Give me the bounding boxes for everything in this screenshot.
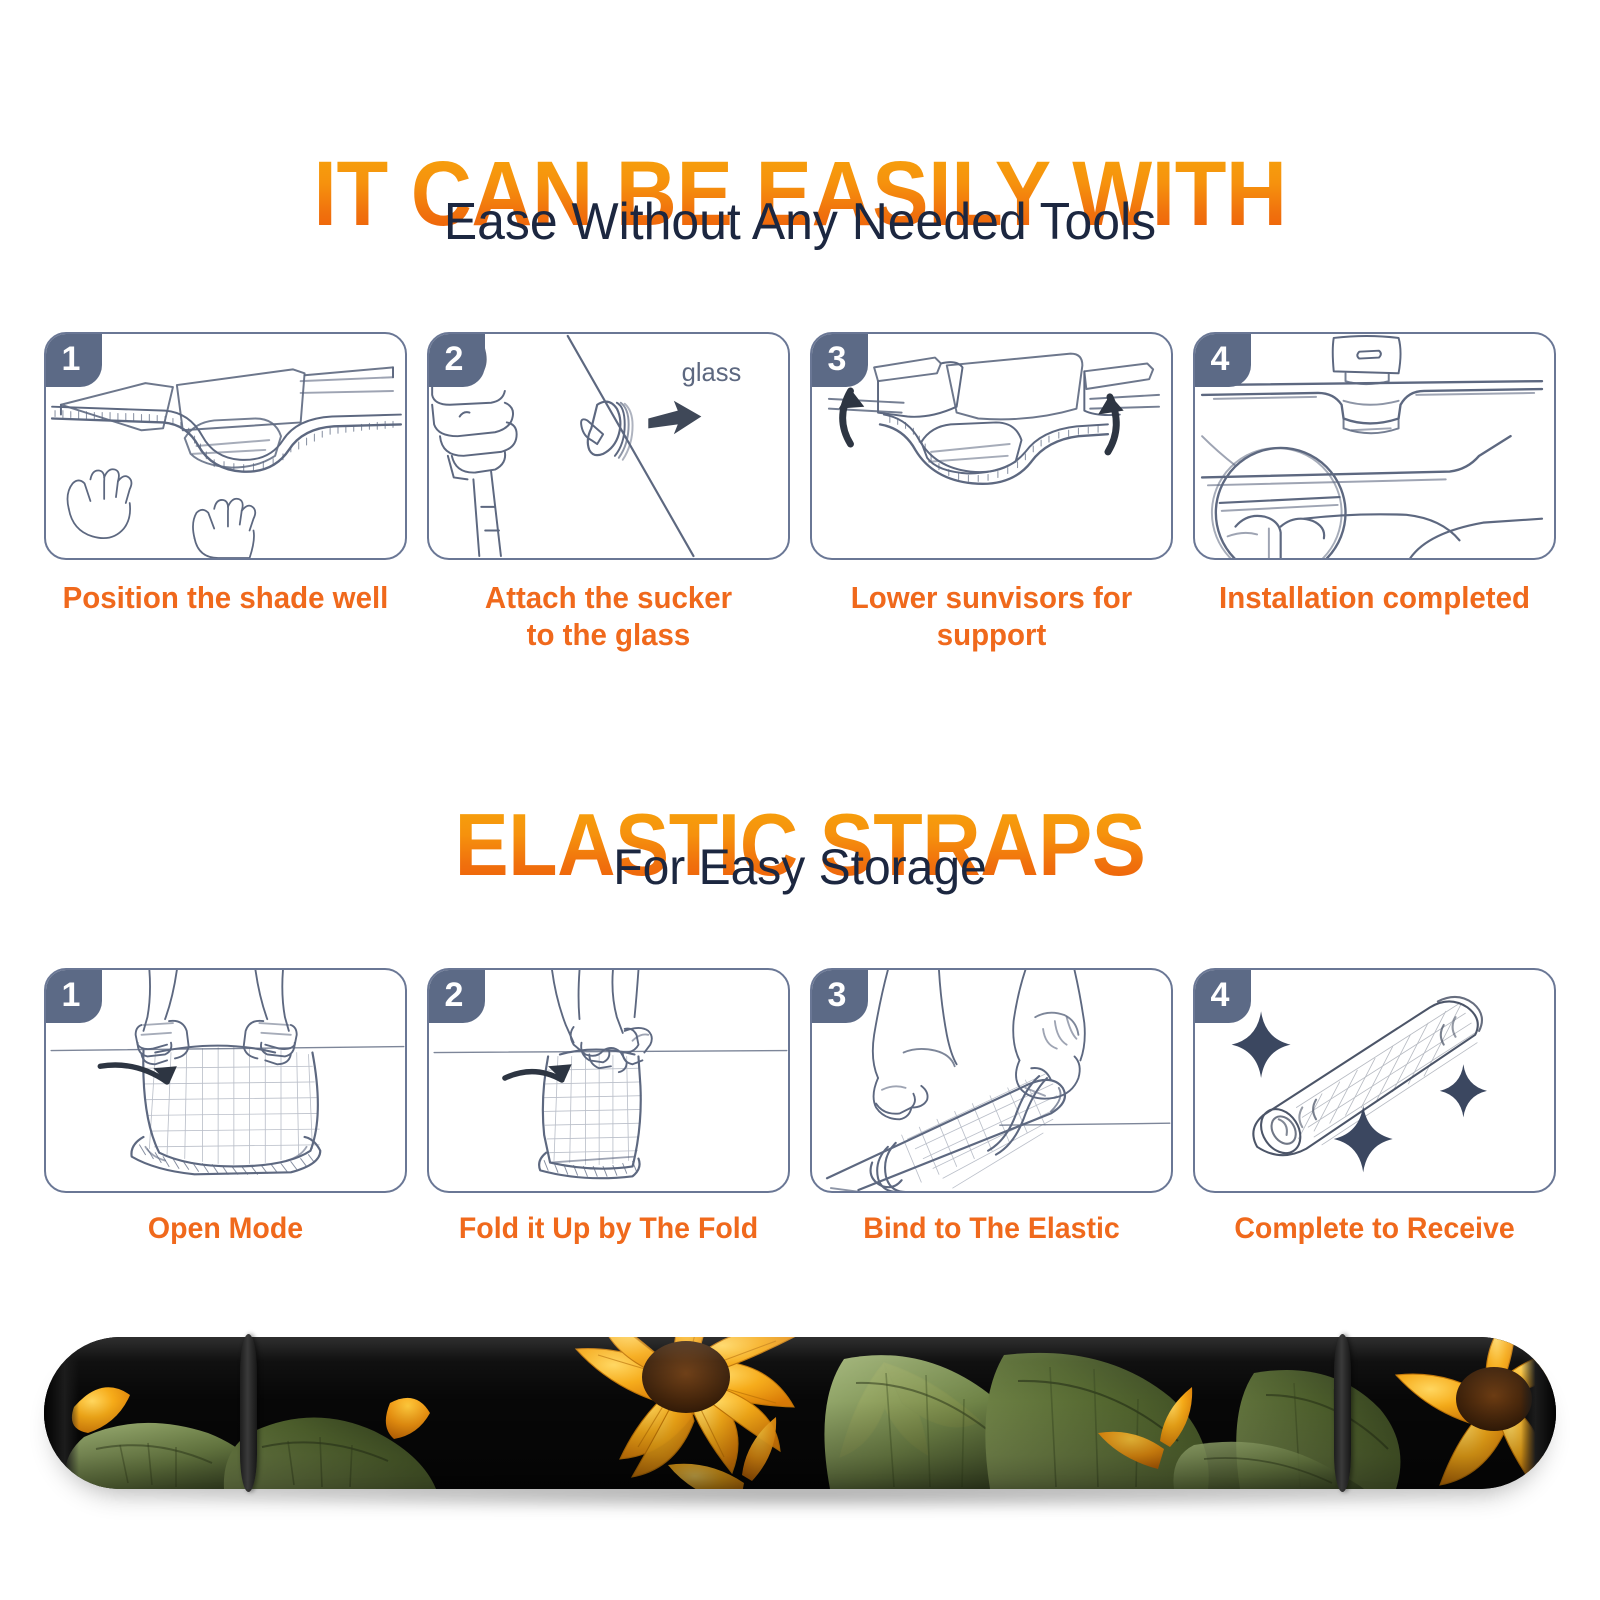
storage-step-2: 2 <box>427 968 790 1246</box>
storage-step-1-card: 1 <box>44 968 407 1193</box>
sunflower-pattern <box>44 1337 1556 1489</box>
install-step-3-card: 3 <box>810 332 1173 560</box>
install-steps-row: 1 <box>44 332 1556 653</box>
storage-step-badge-3: 3 <box>810 968 868 1023</box>
install-step-1-card: 1 <box>44 332 407 560</box>
install-step-1: 1 <box>44 332 407 653</box>
rolled-sunshade-body <box>44 1337 1556 1489</box>
install-step-1-caption: Position the shade well <box>53 580 398 617</box>
elastic-strap-right <box>1334 1334 1351 1492</box>
install-step-4-caption: Installation completed <box>1202 580 1547 617</box>
install-step-3: 3 <box>810 332 1173 653</box>
step-badge-2: 2 <box>427 332 485 387</box>
product-roll-image <box>44 1337 1556 1489</box>
install-step-3-caption: Lower sunvisors for support <box>819 580 1164 653</box>
storage-step-4: 4 <box>1193 968 1556 1246</box>
glass-annotation-label: glass <box>682 359 742 387</box>
storage-step-badge-1: 1 <box>44 968 102 1023</box>
storage-step-3-caption: Bind to The Elastic <box>819 1211 1164 1246</box>
storage-step-1: 1 <box>44 968 407 1246</box>
step-badge-1: 1 <box>44 332 102 387</box>
storage-step-4-card: 4 <box>1193 968 1556 1193</box>
storage-step-2-caption: Fold it Up by The Fold <box>436 1211 781 1246</box>
install-step-2-caption: Attach the sucker to the glass <box>436 580 781 653</box>
storage-subhead: For Easy Storage <box>32 842 1568 892</box>
storage-step-4-caption: Complete to Receive <box>1202 1211 1547 1246</box>
storage-step-3: 3 <box>810 968 1173 1246</box>
install-step-2: 2 <box>427 332 790 653</box>
elastic-strap-left <box>240 1334 257 1492</box>
storage-step-3-card: 3 <box>810 968 1173 1193</box>
install-subhead: Ease Without Any Needed Tools <box>32 196 1568 248</box>
storage-step-badge-2: 2 <box>427 968 485 1023</box>
storage-step-badge-4: 4 <box>1193 968 1251 1023</box>
storage-steps-row: 1 <box>44 968 1556 1246</box>
storage-step-1-caption: Open Mode <box>53 1211 398 1246</box>
step-badge-3: 3 <box>810 332 868 387</box>
install-step-4-card: 4 <box>1193 332 1556 560</box>
storage-step-2-card: 2 <box>427 968 790 1193</box>
roll-ground-shadow <box>104 1481 1504 1511</box>
install-step-2-card: 2 <box>427 332 790 560</box>
step-badge-4: 4 <box>1193 332 1251 387</box>
install-step-4: 4 <box>1193 332 1556 653</box>
sparkle-icons <box>1232 1011 1487 1172</box>
